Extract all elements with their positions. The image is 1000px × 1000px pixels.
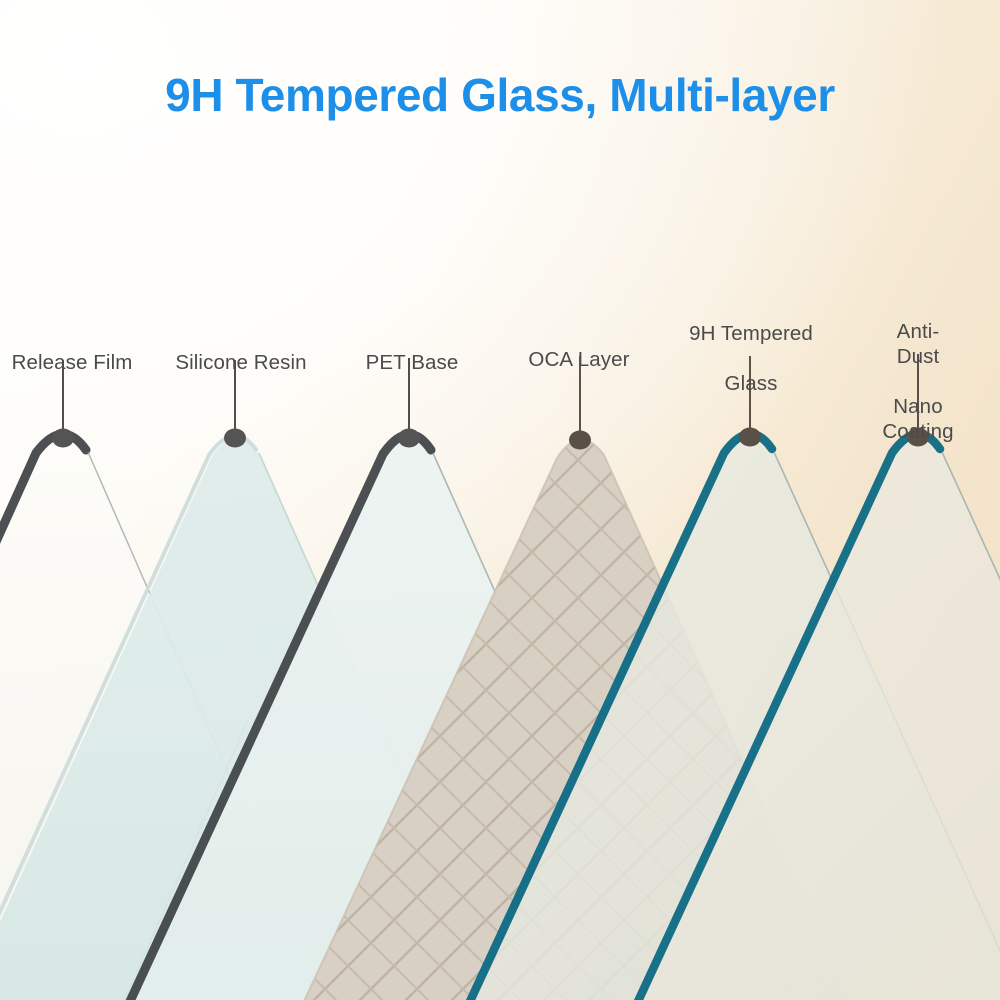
- marker-dot-silicone-resin: [224, 429, 246, 448]
- layer-stack-illustration: [0, 0, 1000, 1000]
- marker-dot-anti-dust: [907, 428, 929, 447]
- marker-dot-release-film: [52, 429, 74, 448]
- callout-leaders: [52, 354, 929, 450]
- marker-dot-pet-base: [398, 429, 420, 448]
- page-title: 9H Tempered Glass, Multi-layer: [0, 68, 1000, 122]
- product-infographic: 9H Tempered Glass, Multi-layer Release F…: [0, 0, 1000, 1000]
- marker-dot-oca-layer: [569, 431, 591, 450]
- marker-dot-9h-glass: [739, 428, 761, 447]
